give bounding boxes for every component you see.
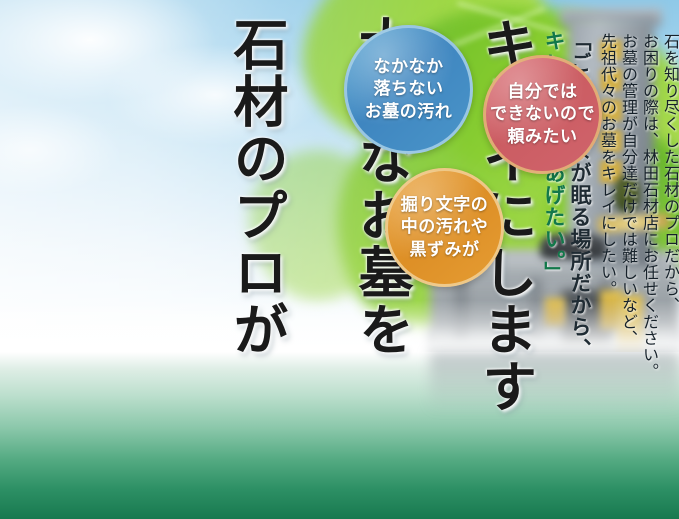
body-line-3: お困りの際は、林田石材店にお任せください。	[641, 33, 657, 380]
bubble-orange-line-1: 掘り文字の	[401, 194, 489, 216]
bubble-red-line-1: 自分では	[508, 81, 578, 103]
headline-column-1: 石材のプロが	[229, 16, 284, 358]
bubble-problem-engraving-dirt: 掘り文字の 中の汚れや 黒ずみが	[385, 168, 504, 287]
bubble-blue-line-1: なかなか	[374, 56, 444, 78]
bubble-problem-cannot-diy: 自分では できないので 頼みたい	[483, 55, 602, 174]
bubble-orange-line-3: 黒ずみが	[410, 239, 480, 261]
gravestone-pillar-1	[455, 278, 466, 340]
bubble-problem-stains: なかなか 落ちない お墓の汚れ	[344, 25, 473, 154]
bubble-red-line-2: できないので	[490, 103, 595, 125]
gold-plaque-1	[545, 298, 565, 326]
green-footer-band	[0, 352, 679, 519]
body-line-4: 石を知り尽くした石材のプロだから、	[662, 33, 678, 314]
bubble-blue-line-3: お墓の汚れ	[365, 101, 453, 123]
bubble-red-line-3: 頼みたい	[508, 126, 578, 148]
promo-banner: 石材のプロが 大切なお墓を キレイにします キレイにしてあげたい。」 「ご先祖さ…	[0, 0, 679, 519]
body-line-1: 先祖代々のお墓をキレイにしたい。	[599, 33, 615, 297]
bubble-orange-line-2: 中の汚れや	[401, 216, 489, 238]
bubble-blue-line-2: 落ちない	[374, 78, 444, 100]
body-line-2: お墓の管理が自分達だけでは難しいなど、	[620, 33, 636, 347]
